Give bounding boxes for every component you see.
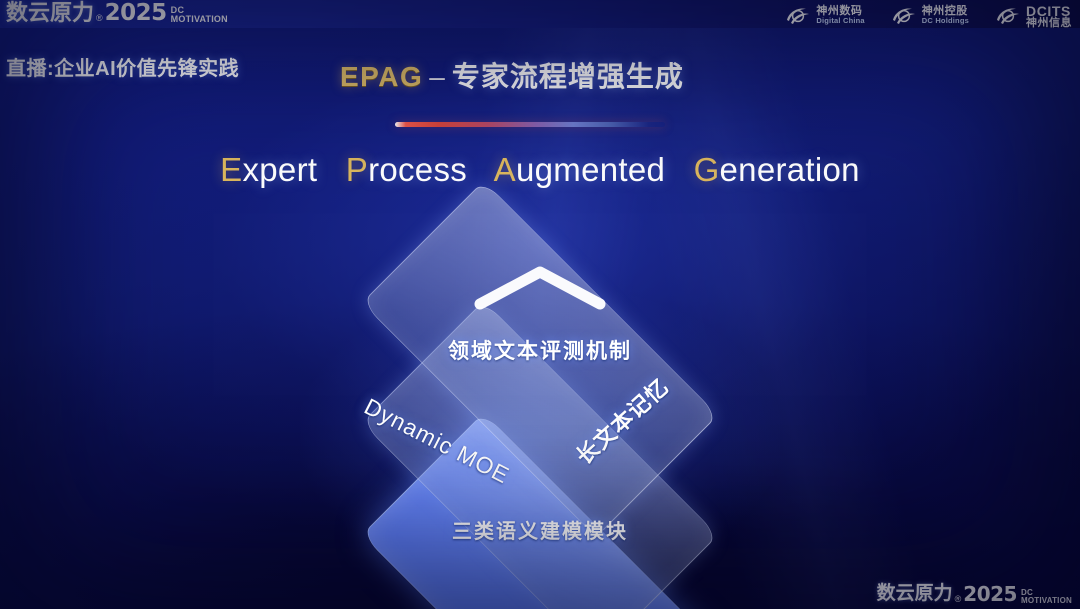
swirl-icon	[785, 6, 811, 26]
subtitle-space-2	[477, 151, 486, 188]
logo-text-dcits: DCITS 神州信息	[1026, 4, 1072, 28]
logo-label-en: DC Holdings	[922, 16, 969, 26]
brand-motivation-label: MOTIVATION	[171, 15, 228, 24]
subtitle-word-expert: Expert	[220, 151, 317, 188]
watermark-registered-mark: ®	[955, 592, 962, 606]
subtitle-expansion: Expert Process Augmented Generation	[0, 151, 1080, 189]
subtitle-word-process: Process	[346, 151, 467, 188]
subtitle-rest-process: rocess	[368, 151, 467, 188]
logo-dcits: DCITS 神州信息	[995, 4, 1072, 28]
brand-logo-header: 数云原力 ® 2025 DC MOTIVATION	[6, 1, 228, 25]
watermark-motivation-label: MOTIVATION	[1021, 597, 1072, 605]
brand-registered-mark: ®	[96, 11, 103, 25]
live-stream-label: 直播:企业AI价值先锋实践	[6, 52, 239, 81]
subtitle-word-generation: Generation	[694, 151, 860, 188]
subtitle-space-1	[327, 151, 336, 188]
logo-digital-china: 神州数码 Digital China	[785, 6, 864, 26]
subtitle-word-augmented: Augmented	[494, 151, 666, 188]
logo-dc-holdings: 神州控股 DC Holdings	[891, 6, 969, 26]
logo-label-cn: 神州数码	[816, 6, 864, 16]
logo-text-digital-china: 神州数码 Digital China	[816, 6, 864, 26]
logo-label-cn: 神州控股	[922, 6, 969, 16]
subtitle-cap-p: P	[346, 151, 368, 188]
partner-logos: 神州数码 Digital China 神州控股 DC Holdings	[785, 4, 1072, 28]
title-chinese: 专家流程增强生成	[452, 61, 684, 92]
presentation-slide: 数云原力 ® 2025 DC MOTIVATION 神州数码 Digital C…	[0, 0, 1080, 609]
architecture-diagram: 领域文本评测机制 Dynamic MOE 长文本记忆 三类语义建模模块	[0, 225, 1080, 585]
subtitle-space-3	[675, 151, 684, 188]
logo-label-en: Digital China	[816, 16, 864, 26]
subtitle-rest-augmented: ugmented	[516, 151, 665, 188]
logo-label-cn: 神州信息	[1026, 18, 1072, 28]
brand-year: 2025	[105, 1, 167, 25]
brand-watermark-footer: 数云原力 ® 2025 DC MOTIVATION	[877, 582, 1072, 606]
swirl-icon	[891, 6, 917, 26]
brand-dc-motivation: DC MOTIVATION	[171, 6, 228, 25]
logo-text-dc-holdings: 神州控股 DC Holdings	[922, 6, 969, 26]
subtitle-cap-g: G	[694, 151, 720, 188]
watermark-dc-motivation: DC MOTIVATION	[1021, 589, 1072, 606]
brand-name-cn: 数云原力	[6, 1, 94, 25]
watermark-name-cn: 数云原力	[877, 582, 953, 606]
page-title: EPAG–专家流程增强生成	[340, 55, 684, 95]
watermark-year: 2025	[963, 582, 1017, 606]
subtitle-rest-generation: eneration	[720, 151, 860, 188]
subtitle-rest-expert: xpert	[242, 151, 317, 188]
swirl-icon	[995, 6, 1021, 26]
title-acronym: EPAG	[340, 61, 423, 92]
logo-label-en: DCITS	[1026, 4, 1072, 18]
title-underline-rule	[395, 122, 665, 127]
subtitle-cap-a: A	[494, 151, 516, 188]
subtitle-cap-e: E	[220, 151, 242, 188]
title-dash: –	[429, 61, 446, 92]
